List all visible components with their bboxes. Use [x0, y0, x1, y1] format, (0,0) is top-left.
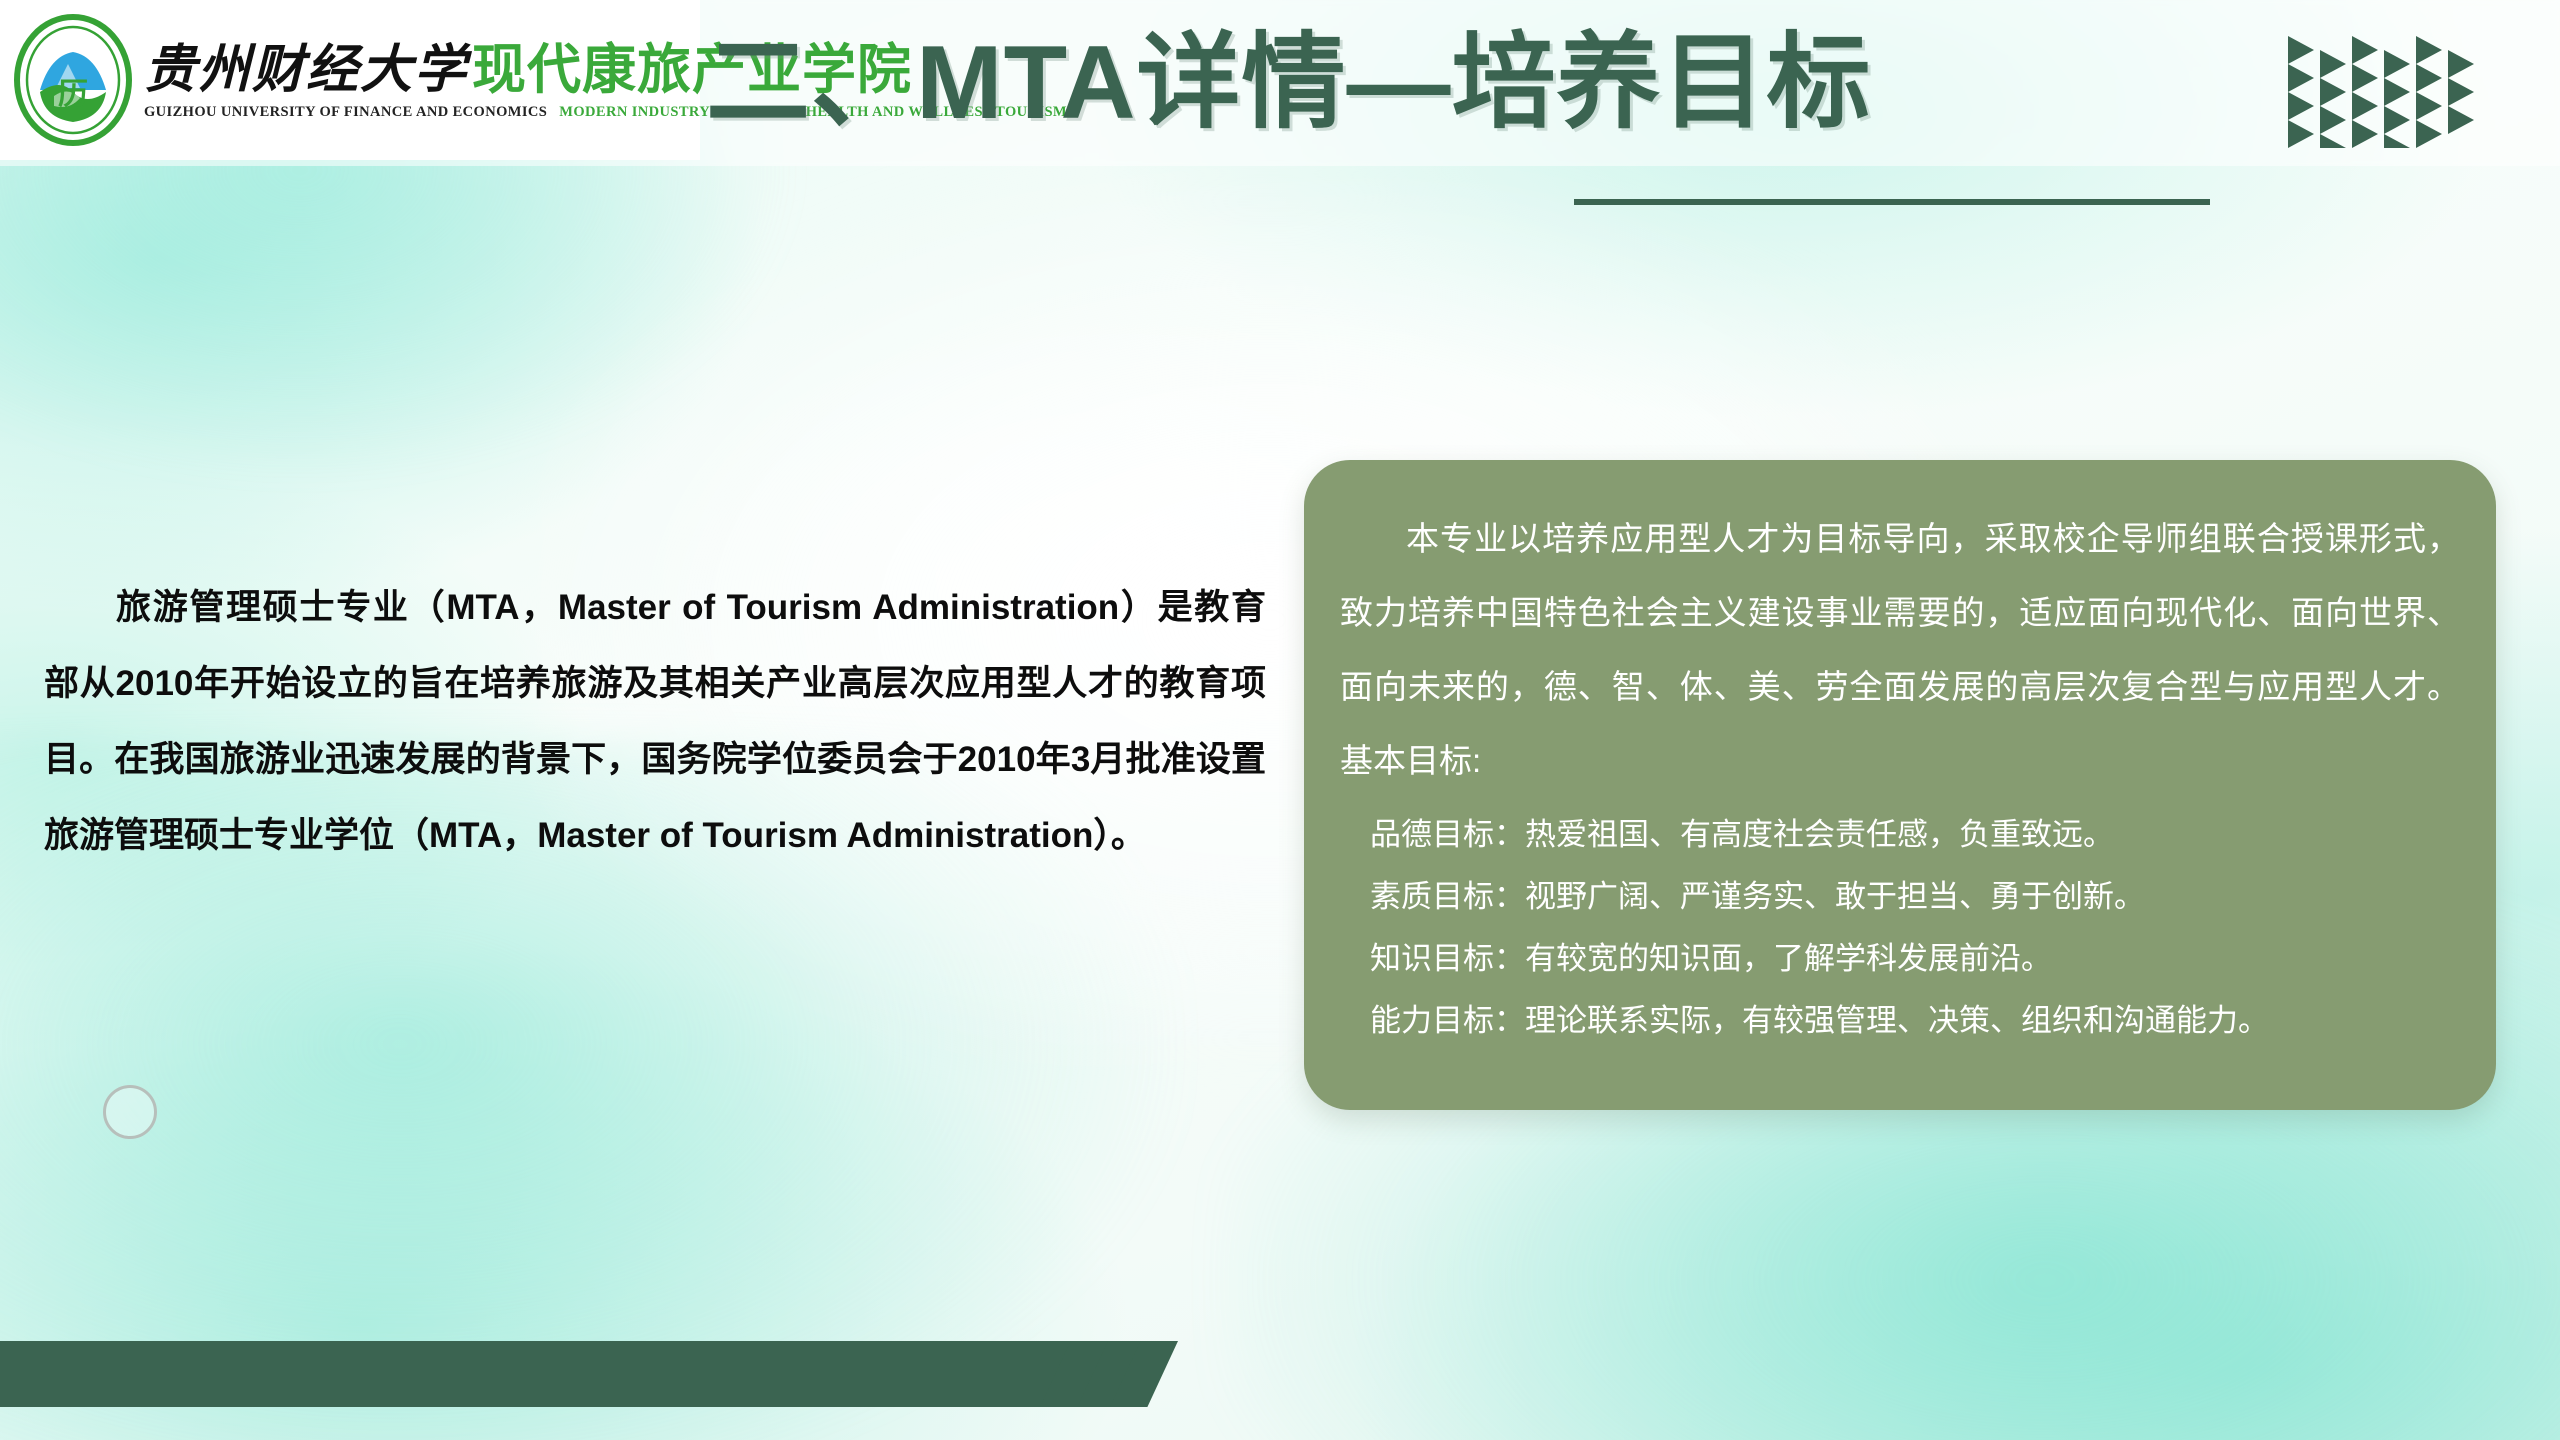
- svg-text:历: 历: [58, 78, 88, 111]
- triangle-grid-decoration: [2288, 36, 2538, 148]
- objectives-intro-text: 本专业以培养应用型人才为目标导向，采取校企导师组联合授课形式，致力培养中国特色社…: [1340, 502, 2460, 798]
- institution-logo-block: 历 贵州财经大学 现代康旅产业学院 GUIZHOU UNIVERSITY OF …: [0, 0, 700, 160]
- hollow-circle-decoration: [103, 1085, 157, 1139]
- list-item: 品德目标：热爱祖国、有高度社会责任感，负重致远。: [1340, 804, 2460, 866]
- bottom-accent-bar: [0, 1341, 1010, 1407]
- list-item: 知识目标：有较宽的知识面，了解学科发展前沿。: [1340, 928, 2460, 990]
- intro-paragraph: 旅游管理硕士专业（MTA，Master of Tourism Administr…: [44, 570, 1266, 874]
- logo-university-name-cn: 贵州财经大学: [144, 45, 468, 97]
- slide-canvas: 历 贵州财经大学 现代康旅产业学院 GUIZHOU UNIVERSITY OF …: [0, 0, 2560, 1440]
- university-emblem-icon: 历: [10, 12, 136, 148]
- objectives-list: 品德目标：热爱祖国、有高度社会责任感，负重致远。 素质目标：视野广阔、严谨务实、…: [1340, 804, 2460, 1052]
- logo-university-name-en: GUIZHOU UNIVERSITY OF FINANCE AND ECONOM…: [144, 104, 547, 121]
- list-item: 能力目标：理论联系实际，有较强管理、决策、组织和沟通能力。: [1340, 990, 2460, 1052]
- slide-title: 二、MTA详情—培养目标: [706, 18, 1872, 148]
- list-item: 素质目标：视野广阔、严谨务实、敢于担当、勇于创新。: [1340, 866, 2460, 928]
- title-underline: [1574, 199, 2210, 205]
- training-objectives-card: 本专业以培养应用型人才为目标导向，采取校企导师组联合授课形式，致力培养中国特色社…: [1304, 460, 2496, 1110]
